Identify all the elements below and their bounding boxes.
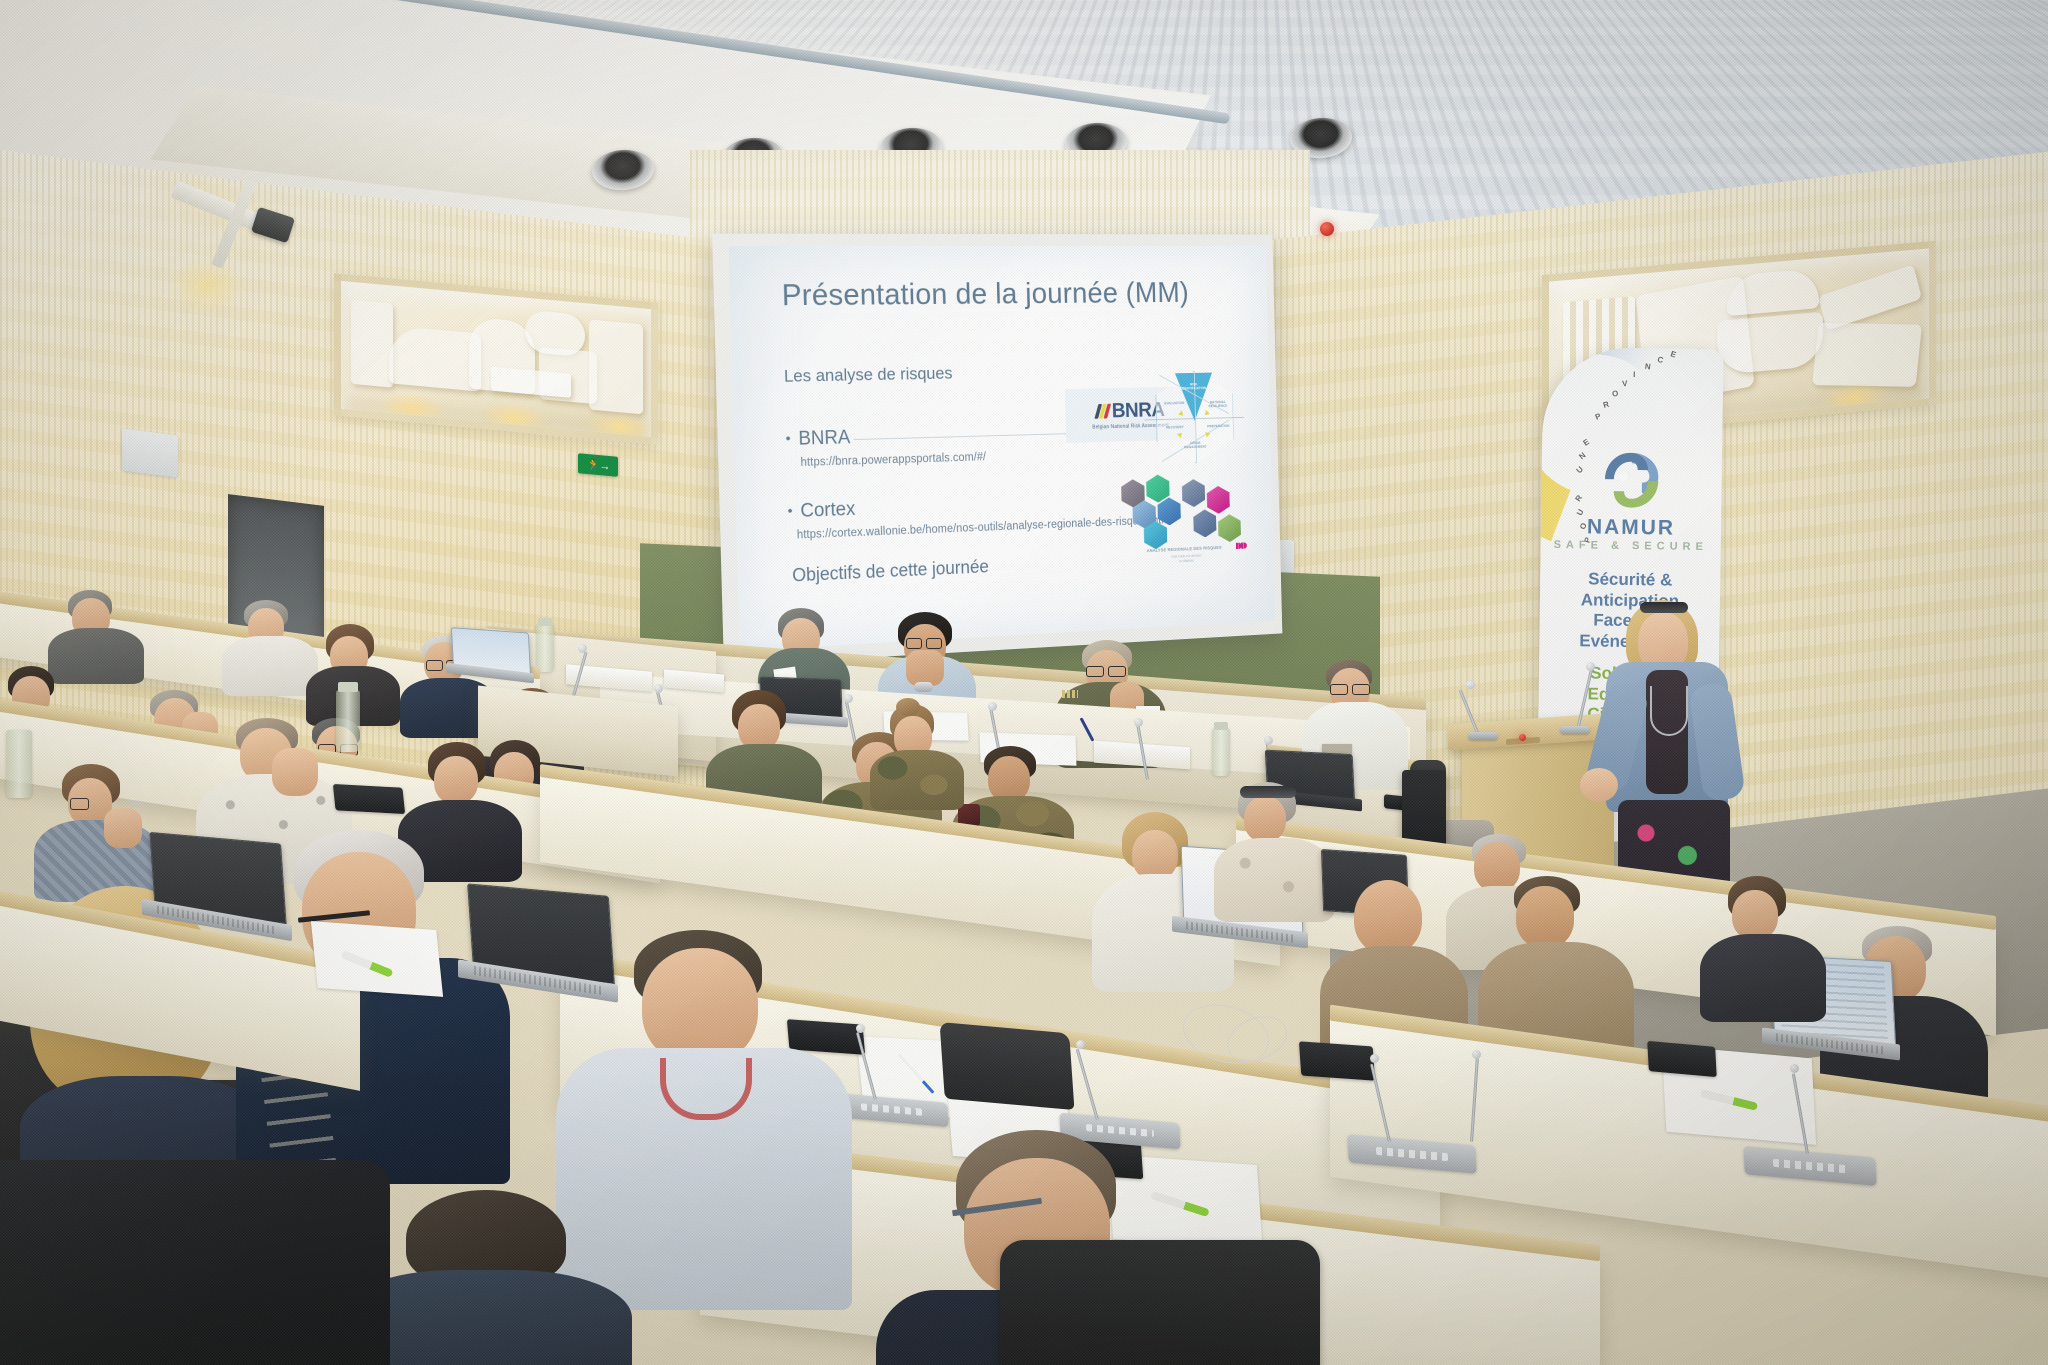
banner-arc-char: R — [1573, 493, 1584, 504]
desk-microphone-head — [1472, 1050, 1481, 1059]
slide-bullet-bnra: BNRA — [785, 427, 850, 451]
podium-mic-indicator — [1519, 734, 1526, 741]
presenter-necklace — [1650, 686, 1688, 736]
chair-back-foreground — [0, 1160, 390, 1365]
risk-cycle-hexagon-icon: RISK IDENTIFICATION NATIONAL RESILIENCE … — [1154, 370, 1234, 464]
technician-glasses — [1330, 684, 1348, 695]
glasses — [426, 660, 443, 671]
head — [1516, 886, 1574, 948]
panel-microphone-head — [1264, 736, 1273, 745]
projection-screen: Présentation de la journée (MM) Les anal… — [712, 234, 1282, 666]
head — [1244, 796, 1286, 842]
panel-microphone-head — [1134, 718, 1143, 727]
panelist-2-glasses — [906, 638, 922, 649]
torso — [222, 636, 318, 696]
hand — [272, 748, 318, 796]
screen-frame: Présentation de la journée (MM) Les anal… — [712, 234, 1282, 666]
banner-arc-char: I — [1633, 370, 1636, 379]
water-bottle — [536, 624, 554, 672]
cortex-logo-icon: ⁍⁍ — [1234, 535, 1245, 559]
status-light — [1320, 222, 1334, 236]
wall-relief-left — [334, 273, 658, 444]
bullet-connector-line — [854, 434, 1066, 441]
banner-arc-char: C — [1657, 355, 1666, 365]
camouflage-uniform — [870, 750, 964, 810]
wall-sign-plate — [122, 429, 178, 478]
desk-microphone-head — [1076, 1040, 1085, 1049]
water-bottle — [1212, 728, 1230, 776]
namur-logo-icon — [1594, 443, 1669, 518]
cortex-hex — [1207, 486, 1230, 515]
audience-member-military-female — [870, 704, 966, 804]
cortex-hex — [1182, 479, 1206, 508]
panelist-3-rank-insignia — [1062, 690, 1078, 698]
cortex-subcaption: Outil d'aide à la décision en Wallonie — [1137, 552, 1234, 565]
cortex-hex — [1157, 497, 1181, 526]
hair-bun-knot — [896, 698, 920, 716]
technician-glasses — [1352, 684, 1370, 695]
smartphone — [333, 784, 405, 814]
slide-subtitle: Les analyse de risques — [784, 364, 953, 387]
banner-arc-char: O — [1611, 388, 1620, 398]
panelist-2-watch — [914, 682, 933, 692]
banner-arc-char: E — [1669, 349, 1678, 360]
conference-room-photo: 🏃→ Présentation de la journée (MM) Les a… — [0, 0, 2048, 1365]
presenter-hand-left — [1580, 768, 1618, 802]
banner-blue-line: Sécurité & — [1540, 569, 1720, 592]
bottle-cap — [1214, 722, 1228, 730]
backpack-on-desk — [940, 1022, 1075, 1110]
podium-microphone-base — [1560, 726, 1590, 734]
slide-title: Présentation de la journée (MM) — [781, 276, 1189, 313]
head — [1732, 890, 1778, 940]
desk-microphone-head — [1790, 1064, 1799, 1073]
panelist-3-glasses — [1108, 666, 1126, 677]
cortex-hex — [1146, 474, 1170, 503]
hand — [104, 808, 142, 848]
head — [1132, 830, 1178, 880]
namur-tagline: SAFE & SECURE — [1541, 539, 1721, 554]
panelist-2-glasses — [926, 638, 942, 649]
presenter-sunglasses-on-head — [1640, 602, 1688, 613]
glasses — [70, 798, 89, 810]
hex-label-national-resilience: NATIONAL RESILIENCE — [1202, 400, 1234, 409]
chair — [1000, 1240, 1320, 1365]
podium-microphone-head — [1466, 680, 1475, 689]
namur-brand: NAMUR — [1541, 515, 1721, 542]
banner-arc-char: N — [1644, 362, 1652, 372]
smartphone — [1299, 1041, 1375, 1080]
hex-label-recovery: RECOVERY — [1159, 425, 1191, 430]
banner-arc-char: P — [1594, 411, 1603, 422]
panel-microphone-head — [654, 684, 663, 693]
slide-url-bnra: https://bnra.powerappsportals.com/#/ — [800, 451, 986, 469]
slide-footer: Objectifs de cette journée — [792, 557, 989, 587]
notepaper — [311, 921, 443, 997]
panelist-2-hands — [906, 650, 944, 686]
head-bald — [1354, 880, 1422, 954]
podium-microphone-head — [1586, 662, 1595, 671]
head — [434, 756, 478, 804]
banner-arc-char: N — [1577, 450, 1588, 461]
hex-label-risk-identification: RISK IDENTIFICATION — [1178, 382, 1210, 391]
hex-label-crisis-management: CRISIS MANAGEMENT — [1179, 441, 1211, 450]
bottle-cap — [338, 682, 358, 692]
banner-arc-char: E — [1581, 437, 1591, 448]
smartphone — [1647, 1041, 1716, 1077]
hex-label-evaluation: EVALUATION — [1158, 401, 1190, 406]
exit-sign: 🏃→ — [578, 453, 618, 476]
water-bottle — [336, 690, 360, 752]
torso — [1214, 838, 1334, 922]
exit-arrow-icon: 🏃→ — [587, 458, 610, 473]
panel-microphone-head — [988, 702, 997, 711]
audience-member — [1700, 876, 1830, 1012]
glasses-on-head — [1240, 786, 1296, 798]
bnra-bars-icon — [1094, 404, 1110, 419]
desk-microphone-head — [1370, 1054, 1379, 1063]
cortex-graphic: ANALYSE REGIONALE DES RISQUES Outil d'ai… — [1119, 471, 1265, 606]
head — [642, 948, 758, 1064]
podium-microphone-base — [1468, 732, 1498, 740]
panel-microphone-head — [578, 644, 587, 653]
panel-microphone-head — [844, 694, 853, 703]
banner-arc-char: U — [1575, 464, 1586, 475]
slide-bullet-cortex: Cortex — [787, 499, 855, 524]
presentation-slide: Présentation de la journée (MM) Les anal… — [729, 246, 1276, 651]
banner-arc-char: R — [1602, 399, 1611, 410]
water-bottle — [6, 730, 32, 798]
bottle-cap — [538, 618, 552, 626]
wall-light-glow — [168, 258, 246, 314]
audience-member — [34, 764, 164, 894]
torso — [1700, 934, 1826, 1022]
banner-arc-char: V — [1622, 379, 1629, 389]
hex-label-preparation: PREPARATION — [1203, 424, 1235, 429]
desk-microphone-head — [856, 1024, 865, 1033]
panelist-3-glasses — [1086, 666, 1104, 677]
cortex-hex — [1193, 509, 1217, 538]
